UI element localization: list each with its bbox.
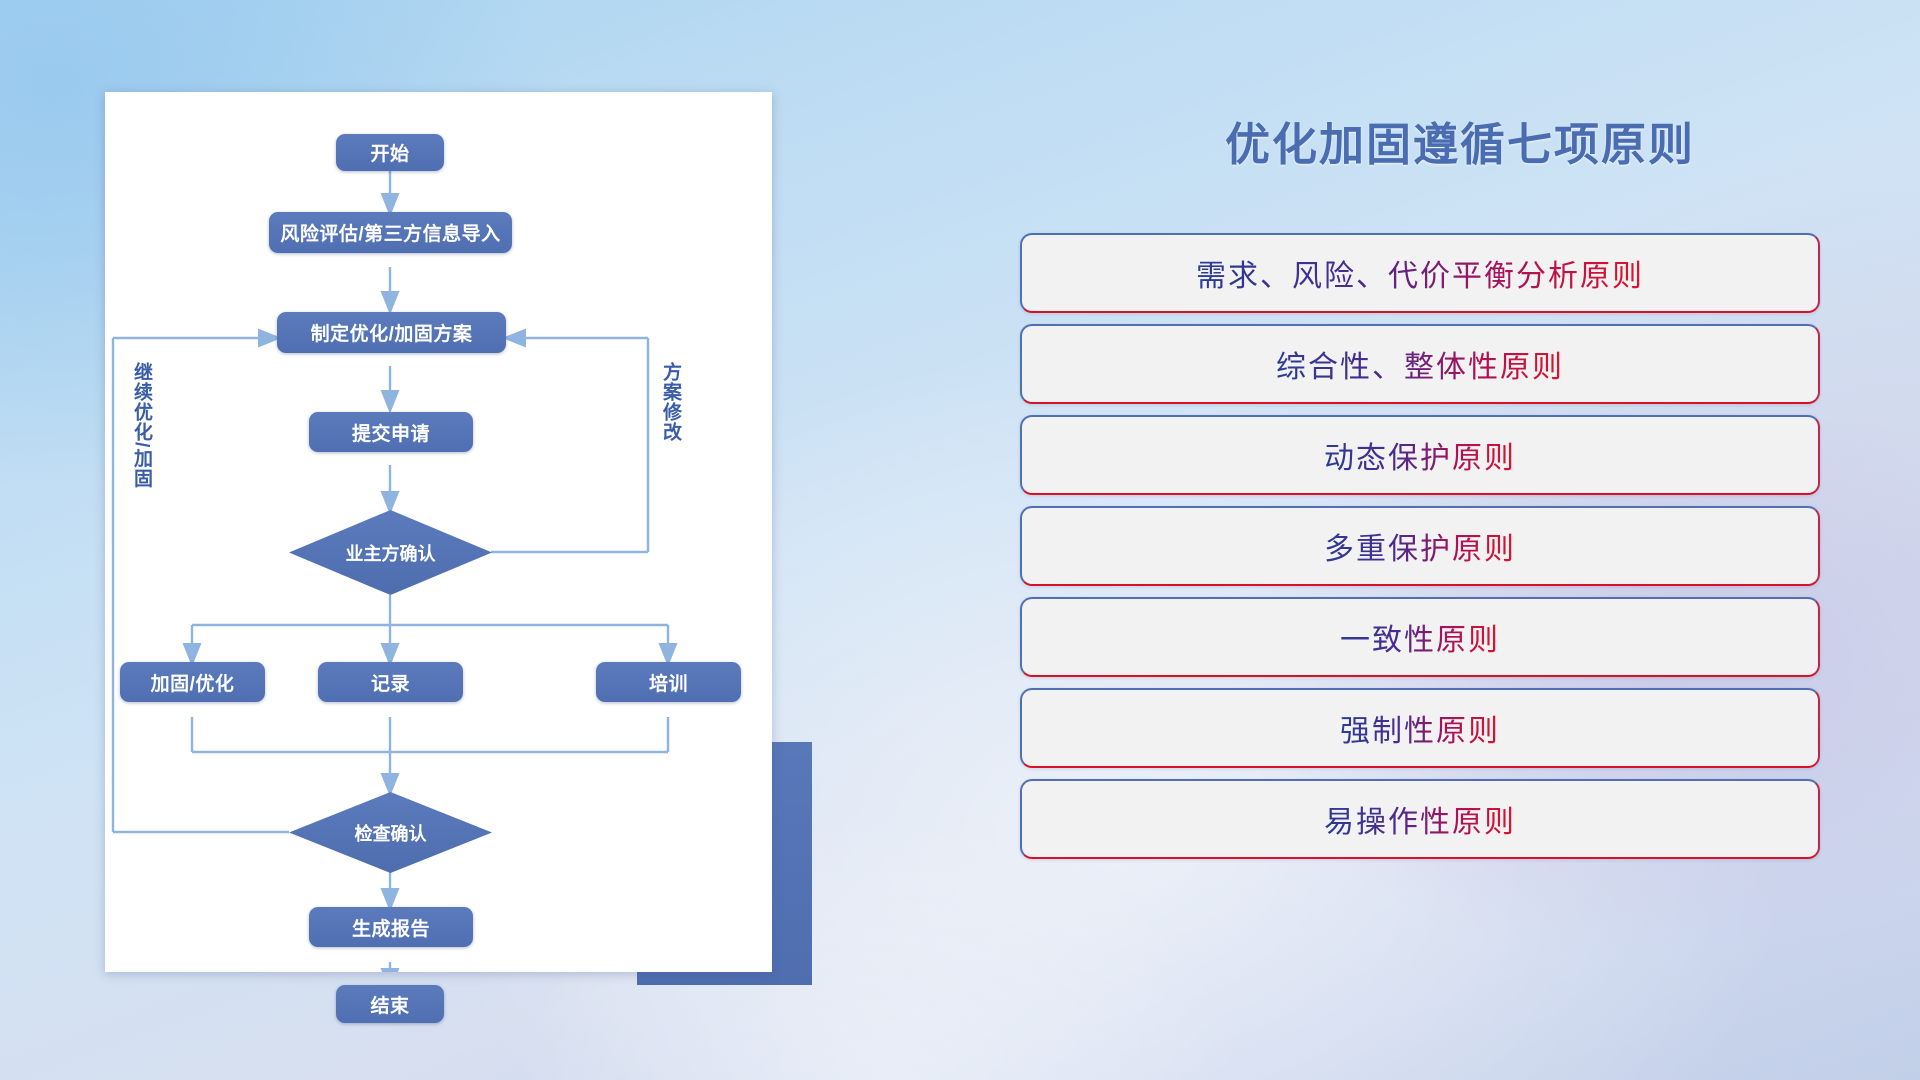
flowchart: 开始 风险评估/第三方信息导入 制定优化/加固方案 提交申请 业主方确认 加固/… [105,92,772,972]
principle-card[interactable]: 动态保护原则 [1020,415,1820,495]
principle-card-label: 需求、风险、代价平衡分析原则 [1196,251,1644,295]
flow-node-reinforce[interactable]: 加固/优化 [120,662,265,702]
principles-card-list: 需求、风险、代价平衡分析原则 综合性、整体性原则 动态保护原则 多重保护原则 一… [1020,233,1820,870]
flow-node-record[interactable]: 记录 [318,662,463,702]
flow-node-start[interactable]: 开始 [336,134,444,171]
principle-card[interactable]: 易操作性原则 [1020,779,1820,859]
principle-card[interactable]: 综合性、整体性原则 [1020,324,1820,404]
flow-node-submit[interactable]: 提交申请 [309,412,473,452]
principles-panel: 优化加固遵循七项原则 需求、风险、代价平衡分析原则 综合性、整体性原则 动态保护… [1020,0,1850,1080]
principle-card[interactable]: 强制性原则 [1020,688,1820,768]
page-title: 优化加固遵循七项原则 [1150,108,1770,173]
principle-card-label: 多重保护原则 [1324,524,1516,568]
flow-node-report[interactable]: 生成报告 [309,907,473,947]
principle-card[interactable]: 多重保护原则 [1020,506,1820,586]
principle-card-label: 综合性、整体性原则 [1276,342,1564,386]
principle-card[interactable]: 一致性原则 [1020,597,1820,677]
principle-card[interactable]: 需求、风险、代价平衡分析原则 [1020,233,1820,313]
principle-card-label: 易操作性原则 [1324,797,1516,841]
flow-node-end[interactable]: 结束 [336,985,444,1023]
principle-card-label: 一致性原则 [1340,615,1500,659]
principle-card-label: 动态保护原则 [1324,433,1516,477]
flow-node-training[interactable]: 培训 [596,662,741,702]
principle-card-label: 强制性原则 [1340,706,1500,750]
flow-label-plan-revision: 方案修改 [660,362,680,442]
flow-node-plan[interactable]: 制定优化/加固方案 [277,312,506,353]
flow-node-risk-assessment[interactable]: 风险评估/第三方信息导入 [269,212,512,253]
flowchart-panel: 开始 风险评估/第三方信息导入 制定优化/加固方案 提交申请 业主方确认 加固/… [105,92,772,972]
flow-label-continue-optimize: 继续优化/加固 [131,362,151,488]
